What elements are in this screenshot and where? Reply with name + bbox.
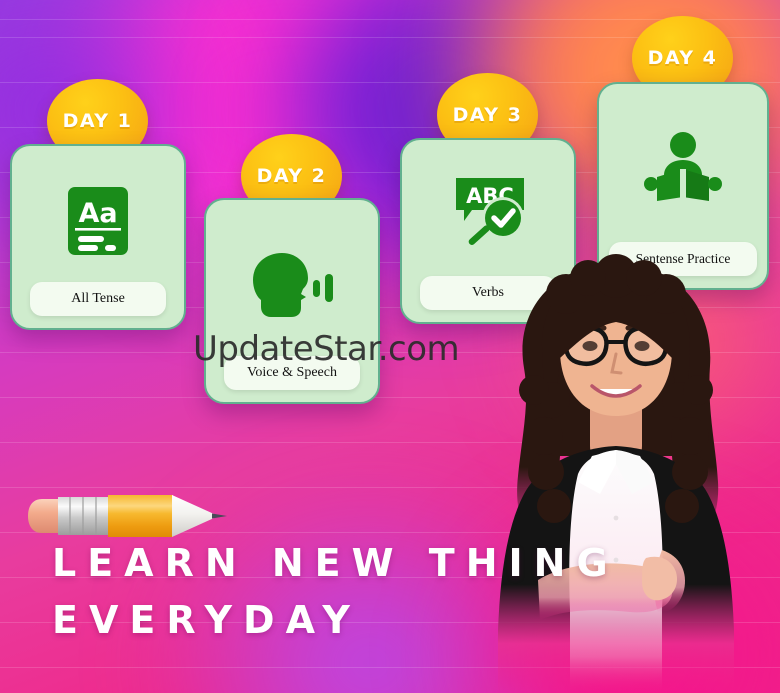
headline-line-2: EVERYDAY (52, 592, 619, 649)
svg-text:Aa: Aa (78, 198, 117, 229)
day-card-2[interactable]: Voice & Speech (204, 198, 380, 404)
headline: LEARN NEW THING EVERYDAY (52, 535, 619, 649)
headline-line-1: LEARN NEW THING (52, 535, 619, 592)
day-card-1-label: All Tense (30, 282, 166, 316)
day-card-1[interactable]: Aa All Tense (10, 144, 186, 330)
poster-canvas: DAY 1 Aa All Tense DAY 2 Voice & Speec (0, 0, 780, 693)
day-badge-4-label: DAY 4 (648, 47, 718, 69)
letter-case-aa-icon: Aa (24, 160, 172, 282)
day-badge-3-label: DAY 3 (453, 104, 523, 126)
day-badge-1-label: DAY 1 (63, 110, 133, 132)
person-reading-book-icon (609, 98, 757, 242)
day-badge-2-label: DAY 2 (257, 165, 327, 187)
watermark-text: UpdateStar.com (193, 329, 459, 369)
